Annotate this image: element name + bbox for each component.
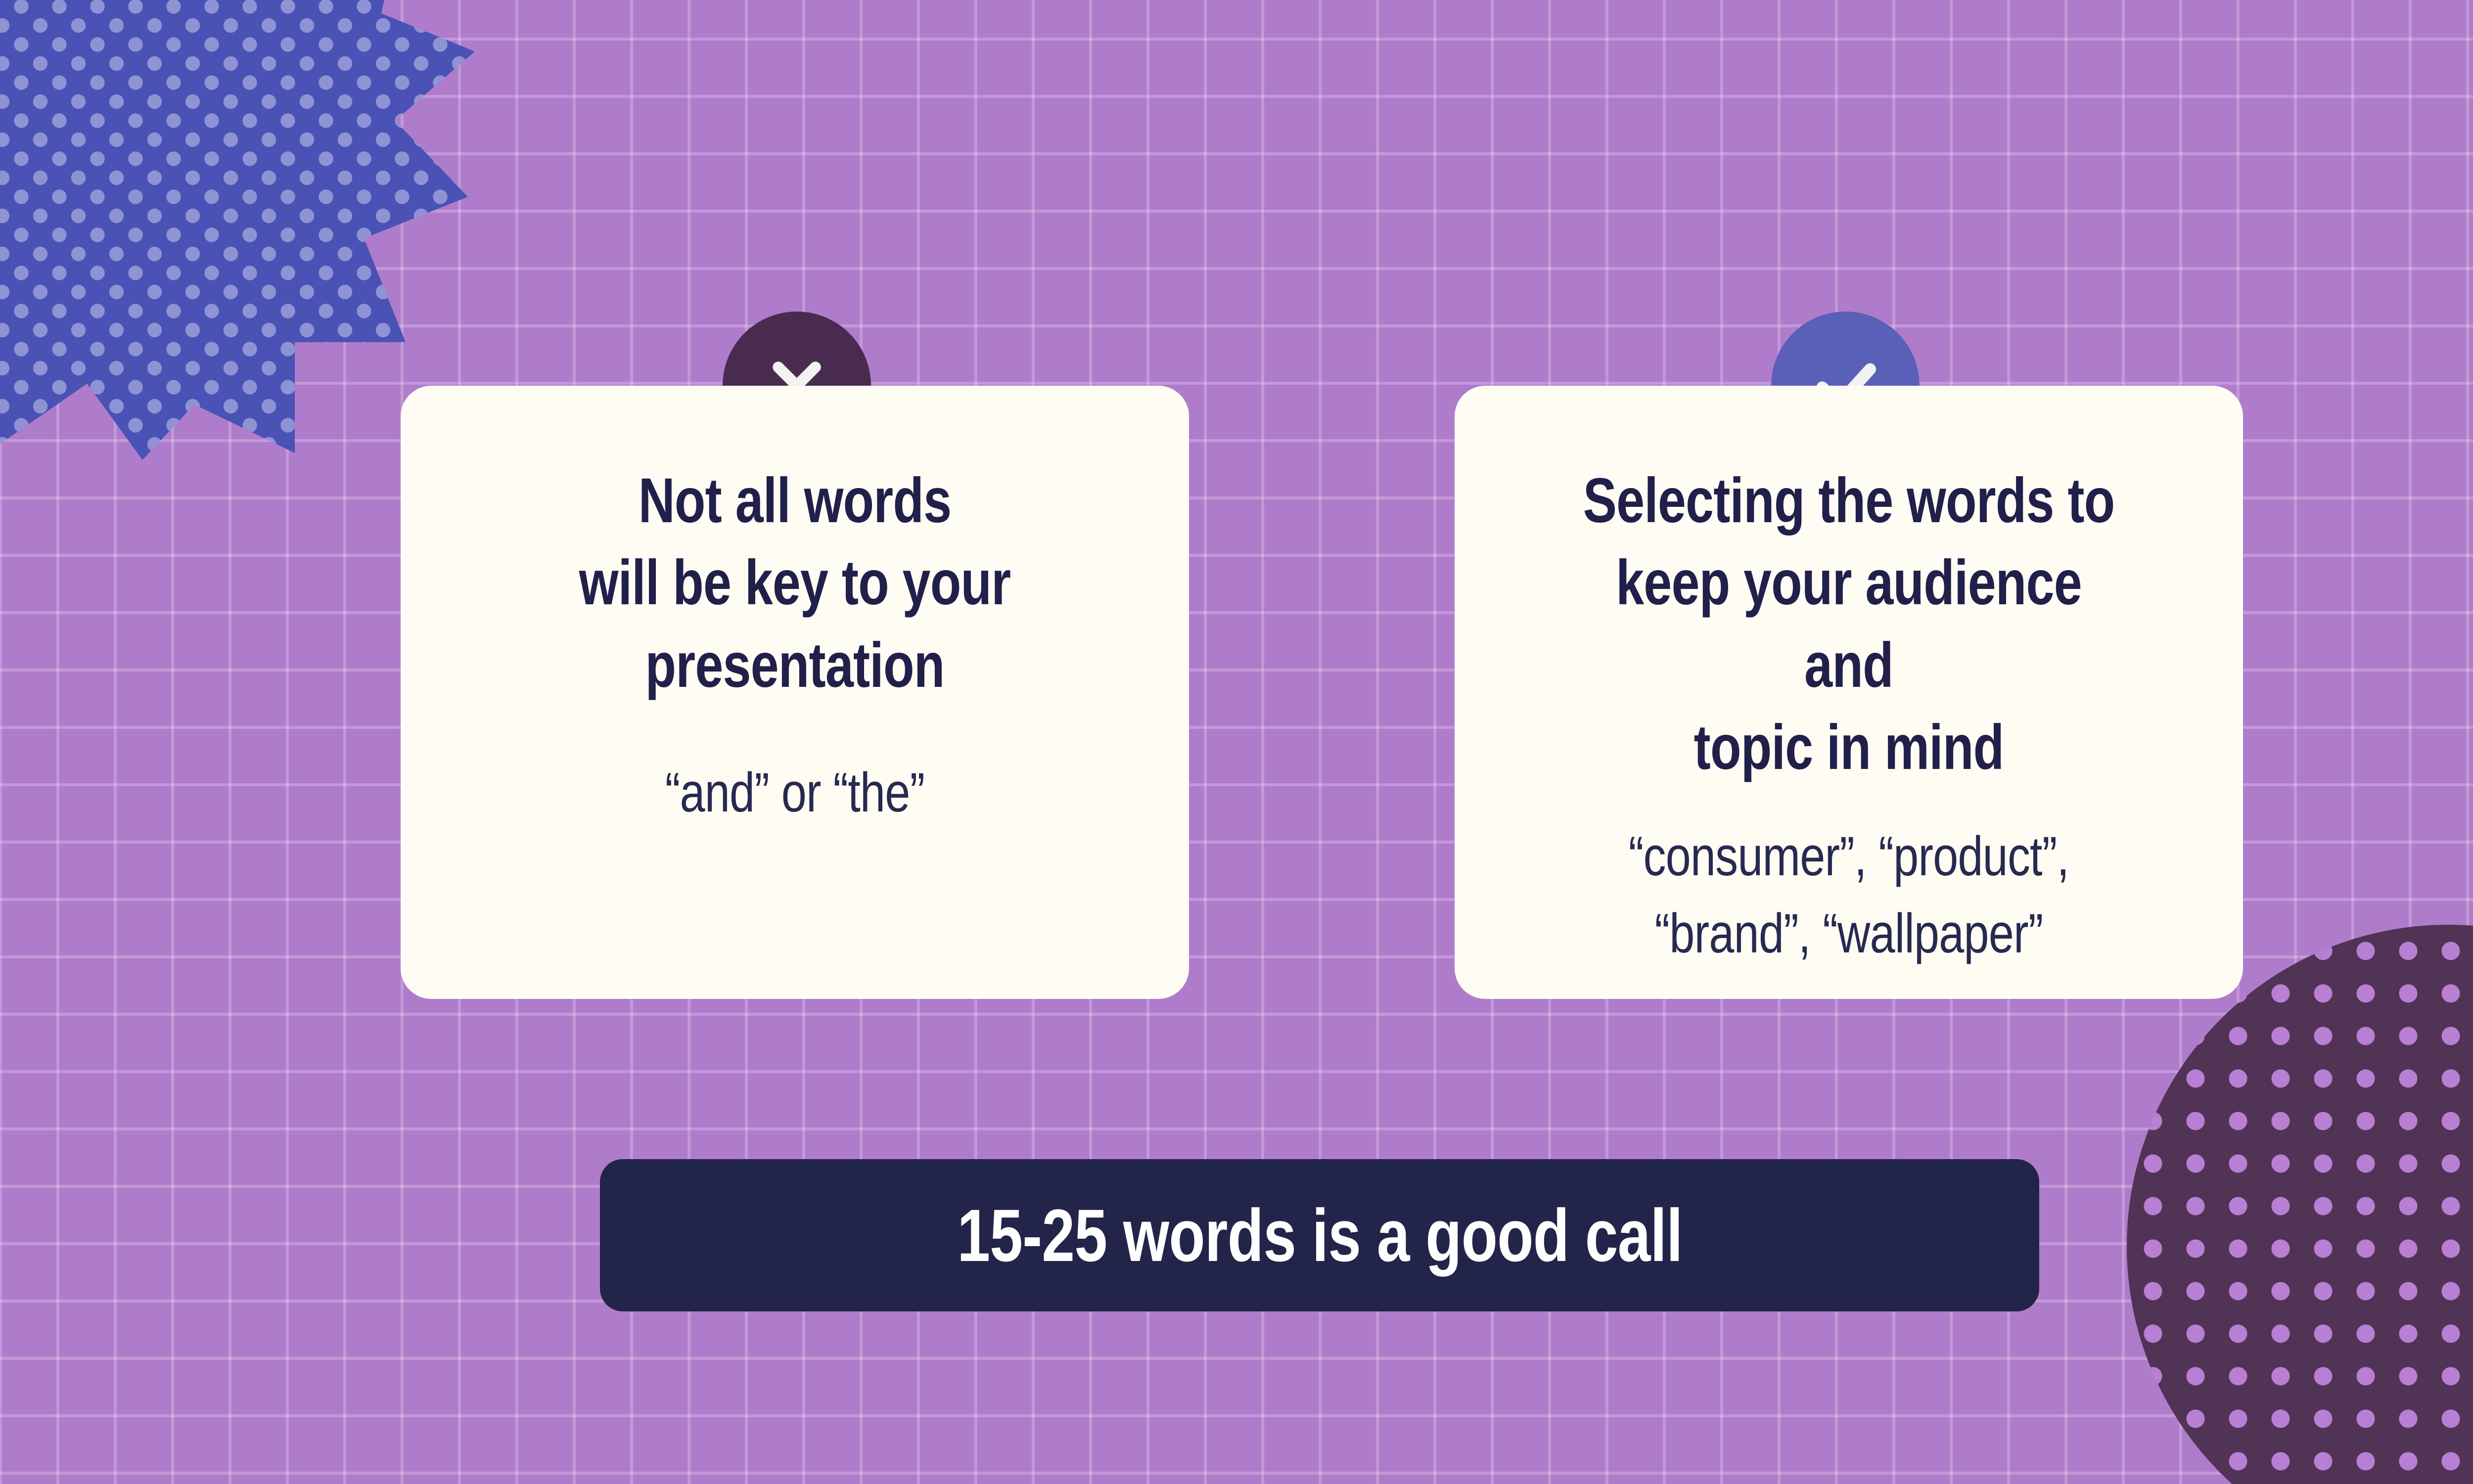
summary-banner-text: 15-25 words is a good call [957, 1198, 1682, 1272]
slide-canvas: Not all words will be key to your presen… [0, 0, 2473, 1484]
card-not-all-words: Not all words will be key to your presen… [401, 386, 1189, 999]
card-subtext: “consumer”, “product”, “brand”, “wallpap… [1563, 818, 2135, 973]
card-heading: Not all words will be key to your presen… [516, 460, 1074, 707]
summary-banner: 15-25 words is a good call [600, 1159, 2039, 1311]
card-heading: Selecting the words to keep your audienc… [1570, 460, 2128, 789]
starburst-shape [0, 0, 475, 460]
card-subtext: “and” or “the” [509, 754, 1081, 832]
card-selecting-words: Selecting the words to keep your audienc… [1455, 386, 2243, 999]
dotted-circle-shape [2127, 925, 2473, 1484]
